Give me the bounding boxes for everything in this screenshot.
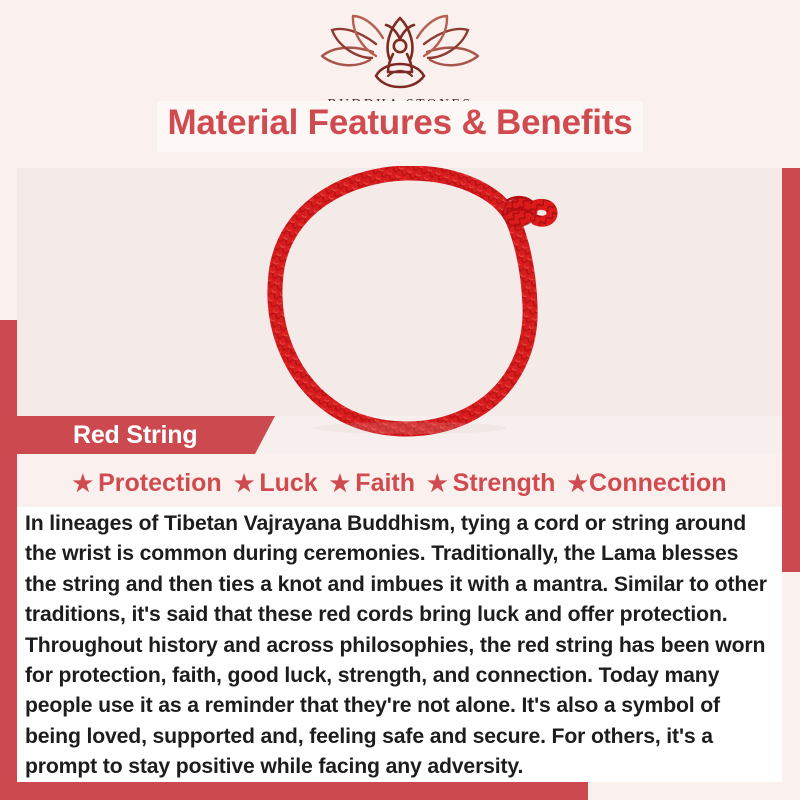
benefit-item-strength: ★ Strength: [427, 469, 555, 498]
benefit-label: Luck: [259, 469, 317, 498]
frame-band-left: [0, 320, 17, 800]
benefit-label: Strength: [453, 469, 556, 498]
description-text: In lineages of Tibetan Vajrayana Buddhis…: [25, 509, 775, 783]
page-title: Material Features & Benefits: [0, 103, 800, 143]
frame-band-bottom: [0, 782, 588, 800]
brand-logo: BUDDHA STONES: [0, 14, 800, 112]
product-name-label: Red String: [73, 421, 197, 450]
benefit-item-protection: ★ Protection: [72, 469, 221, 498]
benefit-item-luck: ★ Luck: [234, 469, 318, 498]
benefit-item-connection: ★ Connection: [567, 469, 726, 498]
benefit-label: Faith: [355, 469, 415, 498]
infographic-canvas: BUDDHA STONES Material Features & Benefi…: [0, 0, 800, 800]
star-icon: ★: [72, 472, 93, 495]
lotus-meditation-icon: [0, 14, 800, 95]
benefit-label: Connection: [589, 469, 727, 498]
star-icon: ★: [427, 472, 448, 495]
benefits-row: ★ Protection ★ Luck ★ Faith ★ Strength ★…: [17, 460, 782, 507]
product-name-banner-tail-icon: [255, 416, 275, 454]
star-icon: ★: [567, 472, 588, 495]
benefit-label: Protection: [98, 469, 222, 498]
benefit-item-faith: ★ Faith: [330, 469, 415, 498]
star-icon: ★: [330, 472, 351, 495]
star-icon: ★: [234, 472, 255, 495]
red-string-braided-bracelet-image: [254, 166, 566, 438]
